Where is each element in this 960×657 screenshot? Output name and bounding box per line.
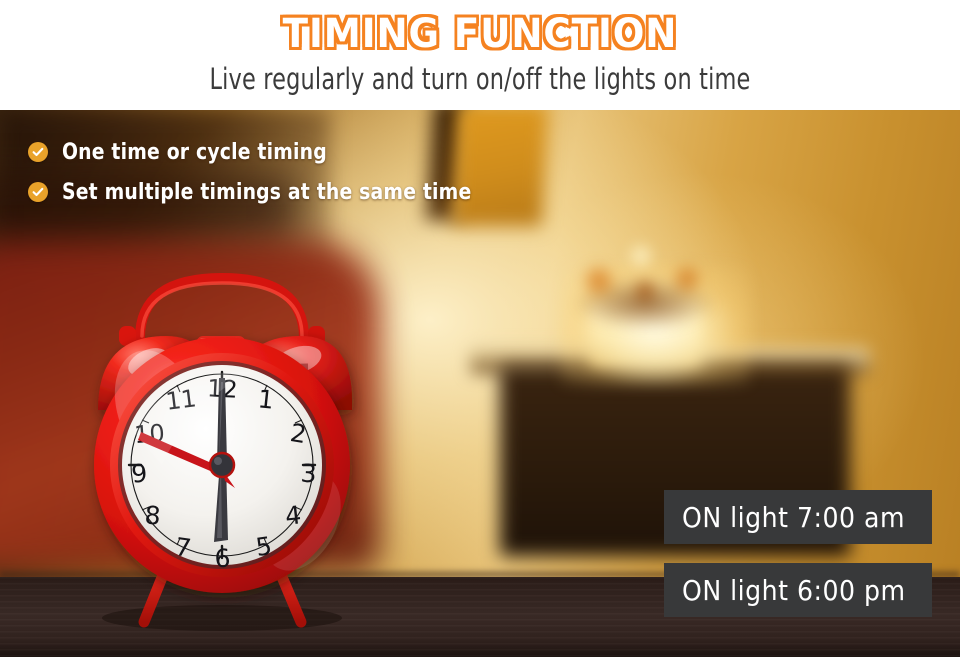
svg-text:9: 9 <box>130 458 148 488</box>
svg-text:6: 6 <box>214 544 231 574</box>
clock-handle <box>140 278 304 338</box>
banner-header: TIMING FUNCTION Live regularly and turn … <box>0 0 960 110</box>
svg-text:4: 4 <box>284 500 303 531</box>
svg-text:8: 8 <box>144 501 162 531</box>
status-badge-evening: ON light 6:00 pm <box>664 563 932 617</box>
status-badge-morning: ON light 7:00 am <box>664 490 932 544</box>
list-item: One time or cycle timing <box>28 136 493 168</box>
check-circle-icon <box>28 182 48 202</box>
alarm-clock: 1 2 3 4 5 6 7 8 9 10 11 12 <box>62 250 382 640</box>
feature-label: Set multiple timings at the same time <box>62 180 471 205</box>
svg-text:1: 1 <box>256 384 275 415</box>
page-subtitle: Live regularly and turn on/off the light… <box>67 62 893 96</box>
timing-function-banner: One time or cycle timing Set multiple ti… <box>0 0 960 657</box>
list-item: Set multiple timings at the same time <box>28 176 493 208</box>
flower-arrangement <box>540 235 750 330</box>
bedroom-scene: One time or cycle timing Set multiple ti… <box>0 110 960 657</box>
feature-list: One time or cycle timing Set multiple ti… <box>28 136 493 216</box>
feature-label: One time or cycle timing <box>62 140 327 165</box>
check-circle-icon <box>28 142 48 162</box>
svg-text:3: 3 <box>300 459 318 489</box>
page-title: TIMING FUNCTION <box>34 13 927 55</box>
